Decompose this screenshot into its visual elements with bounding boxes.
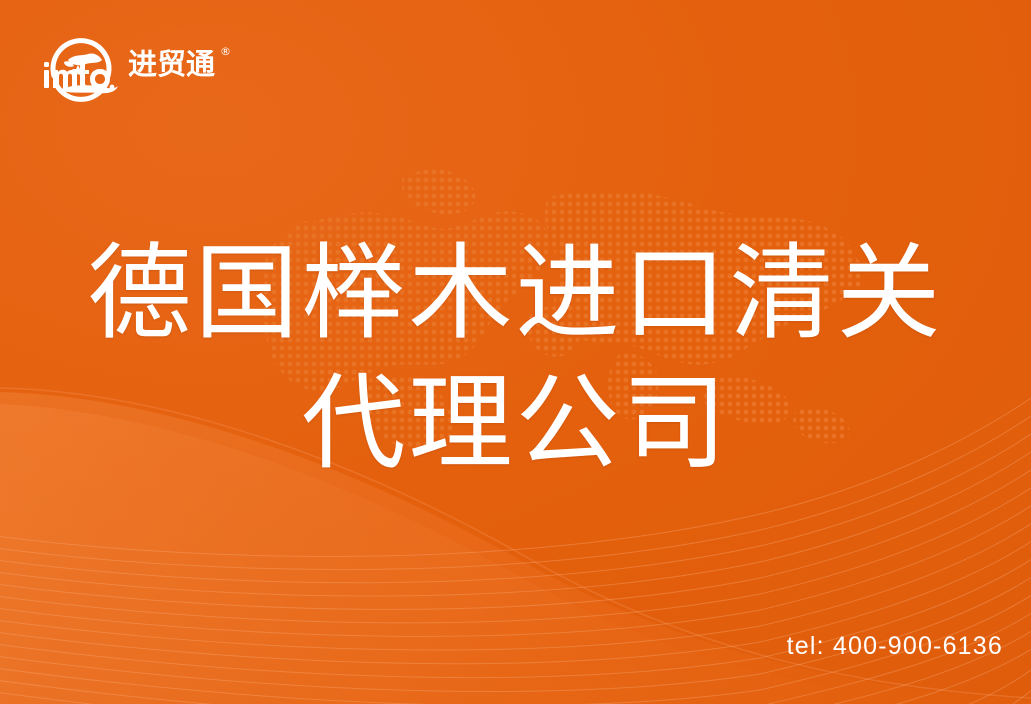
headline-line-1: 德国榉木进口清关 xyxy=(0,228,1031,358)
logo-chinese-wordmark: 进贸通 xyxy=(128,50,215,79)
contact-telephone[interactable]: tel: 400-900-6136 xyxy=(787,634,1003,659)
promotional-banner: 进贸通 ® 德国榉木进口清关 代理公司 tel: 400-900-6136 xyxy=(0,0,1031,704)
brand-logo[interactable]: 进贸通 ® xyxy=(38,32,218,104)
headline-line-2: 代理公司 xyxy=(0,358,1031,488)
globe-world-map-logo-icon xyxy=(38,32,124,104)
page-title: 德国榉木进口清关 代理公司 xyxy=(0,228,1031,488)
registered-trademark-icon: ® xyxy=(220,46,231,57)
